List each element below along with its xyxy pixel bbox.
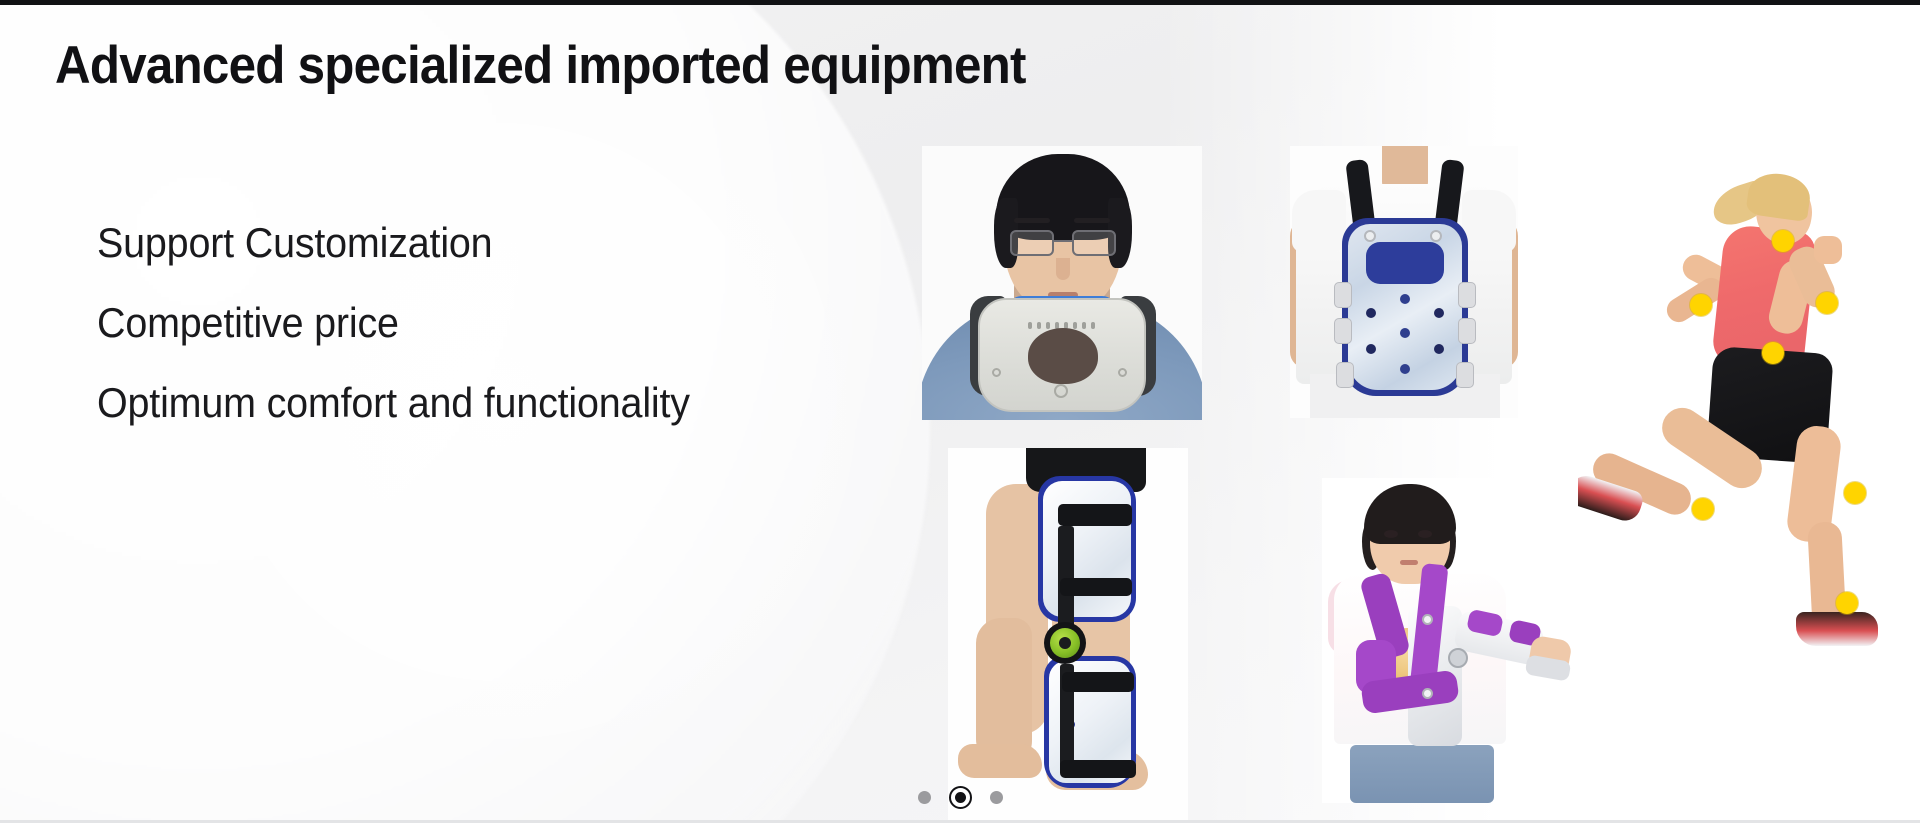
feature-item-optimum-comfort: Optimum comfort and functionality (97, 382, 690, 424)
photo-subject-glasses (1010, 230, 1116, 256)
collar-rivet-left (992, 368, 1001, 377)
collar-chin-cup (1028, 328, 1098, 384)
shirt-sleeve-right (1462, 190, 1516, 252)
joint-marker-knee-front (1844, 482, 1866, 504)
brace-vent-hole (1434, 344, 1444, 354)
brace-snap-left (1364, 230, 1376, 242)
knee-brace-strap-calf-lower (1060, 760, 1136, 778)
child-eye-right (1418, 530, 1432, 538)
glasses-lens-right (1072, 230, 1116, 256)
knee-brace-strap-thigh-upper (1058, 504, 1132, 526)
brace-vent-hole (1366, 344, 1376, 354)
brace-side-buckle-right (1458, 318, 1476, 344)
background-sheen-decoration (120, 60, 880, 820)
photo-subject-brow-left (1014, 218, 1050, 223)
shirt-sleeve-left (1292, 190, 1346, 252)
carousel-dot-2[interactable] (949, 786, 972, 809)
glasses-lens-left (1010, 230, 1054, 256)
knee-brace-thigh-shell (1043, 481, 1131, 617)
photo-subject-nose (1056, 258, 1070, 280)
joint-marker-knee-back (1692, 498, 1714, 520)
product-photo-runner (1560, 150, 1920, 650)
brace-vent-hole (1366, 308, 1376, 318)
photo-subject-foot-back (958, 744, 1042, 778)
brace-side-buckle-left (1334, 318, 1352, 344)
brace-snap-right (1430, 230, 1442, 242)
joint-marker-lower-back (1762, 342, 1784, 364)
brace-vent-hole (1400, 328, 1410, 338)
brace-side-buckle-left (1334, 282, 1352, 308)
carousel-dot-1[interactable] (918, 791, 931, 804)
page-title: Advanced specialized imported equipment (55, 38, 1026, 94)
child-eye-left (1384, 530, 1398, 538)
joint-marker-wrist (1816, 292, 1838, 314)
collar-rivet-right (1118, 368, 1127, 377)
product-photo-knee-brace (948, 448, 1188, 823)
runner-hair (1745, 170, 1813, 222)
brace-vent-hole (1400, 294, 1410, 304)
joint-marker-elbow-back (1690, 294, 1712, 316)
glasses-bridge (1054, 240, 1072, 242)
feature-item-competitive-price: Competitive price (97, 302, 690, 344)
carousel-dot-3[interactable] (990, 791, 1003, 804)
feature-item-support-customization: Support Customization (97, 222, 690, 264)
collar-adjust-knob (1054, 384, 1068, 398)
knee-brace-hinge-pivot (1059, 637, 1071, 649)
brace-side-buckle-right (1456, 362, 1474, 388)
brace-side-buckle-left (1336, 362, 1354, 388)
carousel-pagination[interactable] (0, 786, 1920, 809)
brace-vent-hole (1434, 308, 1444, 318)
runner-shoe-front (1796, 612, 1878, 646)
joint-marker-neck (1772, 230, 1794, 252)
product-photo-spinal-brace (1290, 146, 1518, 418)
top-frame-bar (0, 0, 1920, 5)
feature-list: Support Customization Competitive price … (97, 222, 728, 424)
shoulder-brace-snap-upper (1422, 614, 1433, 625)
knee-brace-strap-thigh-lower (1060, 578, 1132, 596)
product-photo-cervical-collar (922, 146, 1202, 420)
child-hair (1364, 484, 1456, 544)
shoulder-brace-snap-lower (1422, 688, 1433, 699)
brace-chest-window (1366, 242, 1444, 284)
child-mouth (1400, 560, 1418, 565)
knee-brace-strap-calf-upper (1062, 672, 1134, 692)
brace-vent-hole (1400, 364, 1410, 374)
product-photo-child-shoulder-brace (1322, 478, 1578, 803)
brace-side-buckle-right (1458, 282, 1476, 308)
photo-subject-brow-right (1074, 218, 1110, 223)
promo-slide: Advanced specialized imported equipment … (0, 0, 1920, 823)
runner-fist (1814, 236, 1842, 264)
joint-marker-ankle (1836, 592, 1858, 614)
shoulder-brace-elbow-joint (1448, 648, 1468, 668)
